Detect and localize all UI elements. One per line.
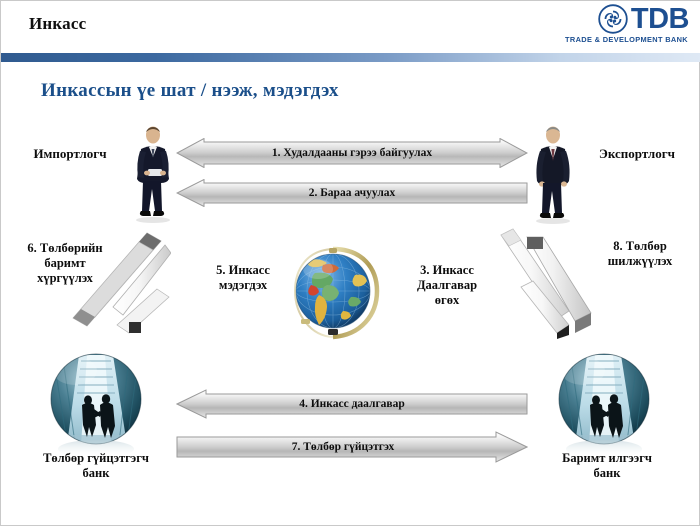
label-exporter: Экспортлогч [577,146,697,162]
tdb-swirl-icon [598,4,628,34]
slide-canvas: Инкасс TDB TRADE & DEVELOPM [0,0,700,526]
label-step-5-line1: 5. Инкасс [195,263,291,278]
arrow-step-4: 4. Инкасс даалгавар [176,389,528,419]
label-step-3-line3: өгөх [399,293,495,308]
label-step-3-line2: Даалгавар [399,278,495,293]
label-importer: Импортлогч [15,146,125,162]
label-step-3: 3. Инкасс Даалгавар өгөх [399,263,495,308]
label-step-8-line1: 8. Төлбөр [583,239,697,254]
label-step-5: 5. Инкасс мэдэгдэх [195,263,291,293]
label-paying-bank: Төлбөр гүйцэтгэгч банк [21,451,171,481]
logo-tagline: TRADE & DEVELOPMENT BANK [565,35,688,44]
arrow-step-7: 7. Төлбөр гүйцэтгэх [176,431,528,463]
logo-row: TDB [598,4,689,34]
label-step-8-line2: шилжүүлэх [583,254,697,269]
slide-header: Инкасс TDB TRADE & DEVELOPM [1,1,700,53]
label-remitting-bank-line2: банк [533,466,681,481]
document-bars-graphic-left [61,229,171,344]
page-title: Инкасс [29,14,86,34]
label-step-5-line2: мэдэгдэх [195,278,291,293]
header-divider-band [1,53,700,62]
arrow-step-2: 2. Бараа ачуулах [176,179,528,207]
label-step-8: 8. Төлбөр шилжүүлэх [583,239,697,269]
arrow-step-1: 1. Худалдааны гэрээ байгуулах [176,138,528,168]
globe-image [289,245,385,350]
arrow-step-2-label: 2. Бараа ачуулах [309,187,396,199]
arrow-step-4-label: 4. Инкасс даалгавар [299,398,405,410]
slide-title: Инкассын үе шат / нээж, мэдэгдэх [41,80,339,102]
label-remitting-bank-line1: Баримт илгээгч [533,451,681,466]
businessman-photo-exporter [529,125,577,230]
label-step-3-line1: 3. Инкасс [399,263,495,278]
logo-wordmark: TDB [631,4,689,34]
label-remitting-bank: Баримт илгээгч банк [533,451,681,481]
businessman-photo-importer [129,125,177,230]
label-paying-bank-line1: Төлбөр гүйцэтгэгч [21,451,171,466]
label-paying-bank-line2: банк [21,466,171,481]
arrow-step-1-label: 1. Худалдааны гэрээ байгуулах [272,147,432,159]
tdb-logo: TDB TRADE & DEVELOPMENT BANK [565,4,689,44]
arrow-step-7-label: 7. Төлбөр гүйцэтгэх [292,441,394,453]
